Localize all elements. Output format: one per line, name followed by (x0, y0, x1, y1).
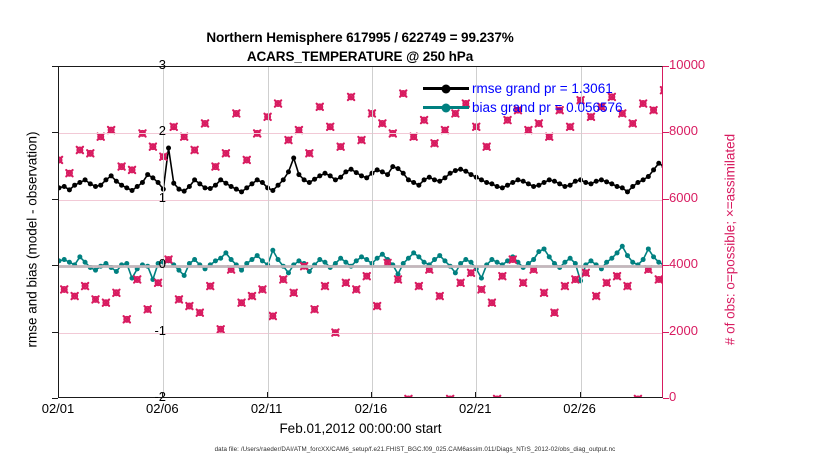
series-marker (630, 184, 635, 189)
obs-marker (536, 120, 542, 126)
obs-marker (567, 124, 573, 130)
obs-marker (129, 167, 135, 173)
y-axis-left-tick-label: 1 (106, 190, 166, 205)
obs-marker (144, 306, 150, 312)
obs-marker (431, 140, 437, 146)
series-marker (375, 256, 380, 261)
series-marker (411, 250, 416, 255)
series-marker (432, 177, 437, 182)
series-marker (62, 257, 67, 262)
series-marker (260, 180, 265, 185)
series-marker (239, 189, 244, 194)
series-marker (354, 258, 359, 263)
series-marker (588, 181, 593, 186)
series-marker (213, 183, 218, 188)
series-marker (208, 186, 213, 191)
x-axis-tick-mark (580, 392, 581, 398)
series-marker (646, 246, 651, 251)
series-marker (609, 256, 614, 261)
series-marker (135, 184, 140, 189)
series-marker (479, 276, 484, 281)
figure-canvas: Northern Hemisphere 617995 / 622749 = 99… (0, 0, 830, 470)
series-marker (531, 257, 536, 262)
obs-marker (614, 273, 620, 279)
series-marker (343, 260, 348, 265)
series-marker (500, 185, 505, 190)
series-marker (463, 257, 468, 262)
series-marker (364, 175, 369, 180)
obs-marker (171, 124, 177, 130)
series-marker (401, 171, 406, 176)
series-marker (552, 179, 557, 184)
series-marker (140, 180, 145, 185)
series-marker (249, 257, 254, 262)
obs-marker (364, 273, 370, 279)
obs-marker (379, 120, 385, 126)
series-marker (302, 177, 307, 182)
obs-marker (343, 280, 349, 286)
series-marker (390, 164, 395, 169)
series-marker (526, 181, 531, 186)
series-marker (641, 257, 646, 262)
x-axis-label: Feb.01,2012 00:00:00 start (58, 421, 663, 436)
series-marker (150, 175, 155, 180)
series-marker (562, 260, 567, 265)
obs-marker (410, 134, 416, 140)
series-marker (223, 181, 228, 186)
obs-marker (337, 143, 343, 149)
chart-legend: rmse grand pr = 1.3061bias grand pr = 0.… (423, 79, 623, 117)
series-marker (176, 268, 181, 273)
data-file-caption: data file: /Users/raeder/DAI/ATM_forcXX/… (0, 446, 830, 453)
obs-marker (249, 293, 255, 299)
series-marker (98, 183, 103, 188)
series-marker (448, 171, 453, 176)
series-marker (625, 253, 630, 258)
obs-marker (322, 283, 328, 289)
series-marker (77, 180, 82, 185)
y-axis-right-tick-mark (663, 66, 669, 67)
obs-marker (562, 283, 568, 289)
series-marker (286, 270, 291, 275)
series-marker (114, 179, 119, 184)
series-marker (59, 258, 62, 263)
series-marker (229, 184, 234, 189)
series-marker (432, 257, 437, 262)
series-marker (599, 177, 604, 182)
series-marker (260, 258, 265, 263)
obs-marker (306, 150, 312, 156)
obs-marker (437, 293, 443, 299)
series-marker (59, 185, 62, 190)
series-marker (223, 250, 228, 255)
obs-marker (280, 276, 286, 282)
obs-marker (478, 286, 484, 292)
x-axis-tick-mark (267, 392, 268, 398)
gridline-vertical (163, 67, 164, 397)
series-marker (489, 257, 494, 262)
series-marker (635, 180, 640, 185)
obs-marker (551, 309, 557, 315)
obs-marker (327, 124, 333, 130)
obs-marker (113, 290, 119, 296)
series-marker (291, 155, 296, 160)
series-marker (406, 177, 411, 182)
series-marker (547, 254, 552, 259)
series-marker (93, 184, 98, 189)
y-axis-left-tick-mark (52, 398, 58, 399)
y-axis-left-tick-mark (52, 199, 58, 200)
series-marker (364, 257, 369, 262)
series-marker (422, 260, 427, 265)
gridline-vertical (372, 67, 373, 397)
obs-marker (217, 326, 223, 332)
obs-marker (400, 90, 406, 96)
series-marker (281, 177, 286, 182)
obs-marker (275, 100, 281, 106)
obs-marker (661, 87, 663, 93)
series-marker (625, 189, 630, 194)
series-marker (641, 177, 646, 182)
series-marker (620, 185, 625, 190)
obs-marker (92, 296, 98, 302)
series-marker (62, 184, 67, 189)
gridline-vertical (268, 67, 269, 397)
series-marker (547, 177, 552, 182)
series-marker (615, 184, 620, 189)
obs-marker (541, 290, 547, 296)
series-marker (536, 249, 541, 254)
series-marker (72, 183, 77, 188)
series-marker (333, 177, 338, 182)
obs-marker (405, 396, 411, 398)
x-axis-tick-mark (475, 392, 476, 398)
series-marker (171, 181, 176, 186)
series-marker (67, 260, 72, 265)
series-marker (422, 177, 427, 182)
series-marker (270, 188, 275, 193)
legend-line-swatch (423, 106, 469, 109)
obs-marker (61, 286, 67, 292)
series-marker (176, 187, 181, 192)
series-marker (312, 177, 317, 182)
series-marker (338, 175, 343, 180)
y-axis-left-tick-mark (52, 265, 58, 266)
obs-marker (291, 290, 297, 296)
series-marker (442, 258, 447, 263)
series-marker (197, 181, 202, 186)
series-marker (166, 146, 171, 151)
series-marker (103, 177, 108, 182)
series-marker (469, 260, 474, 265)
series-marker (322, 260, 327, 265)
obs-marker (155, 280, 161, 286)
obs-marker (421, 117, 427, 123)
obs-marker (494, 396, 500, 398)
series-marker (630, 260, 635, 265)
obs-marker (447, 396, 453, 398)
series-marker (244, 185, 249, 190)
obs-marker (259, 286, 265, 292)
series-marker (380, 252, 385, 257)
series-marker (276, 257, 281, 262)
series-marker (385, 172, 390, 177)
series-marker (458, 167, 463, 172)
x-axis-tick-label: 02/16 (355, 401, 388, 416)
obs-marker (525, 127, 531, 133)
series-marker (322, 171, 327, 176)
series-marker (542, 246, 547, 251)
x-axis-tick-mark (58, 392, 59, 398)
series-marker (93, 268, 98, 273)
series-marker (437, 179, 442, 184)
y-axis-right-tick-mark (663, 332, 669, 333)
x-axis-tick-label: 02/01 (42, 401, 75, 416)
series-marker (489, 181, 494, 186)
obs-marker (150, 143, 156, 149)
series-marker (453, 270, 458, 275)
series-marker (396, 272, 401, 277)
y-axis-left-tick-mark (52, 132, 58, 133)
obs-marker (165, 256, 171, 262)
series-marker (307, 180, 312, 185)
y-axis-left-label: rmse and bias (model - observation) (25, 70, 40, 410)
series-marker (119, 183, 124, 188)
obs-marker (593, 293, 599, 299)
series-marker (156, 180, 161, 185)
series-marker (88, 181, 93, 186)
obs-marker (66, 170, 72, 176)
obs-marker (186, 303, 192, 309)
series-marker (651, 167, 656, 172)
x-axis-tick-label: 02/11 (251, 401, 283, 416)
obs-marker (353, 286, 359, 292)
series-marker (187, 184, 192, 189)
series-marker (469, 172, 474, 177)
series-marker (249, 181, 254, 186)
series-rmse (59, 146, 663, 195)
series-marker (562, 184, 567, 189)
series-marker (583, 180, 588, 185)
series-marker (229, 257, 234, 262)
series-marker (416, 254, 421, 259)
obs-marker (583, 270, 589, 276)
series-marker (484, 180, 489, 185)
series-marker (437, 253, 442, 258)
obs-marker (82, 283, 88, 289)
y-axis-left-tick-mark (52, 332, 58, 333)
series-marker (77, 254, 82, 259)
y-axis-left-tick-label: 0 (106, 256, 166, 271)
series-marker (588, 258, 593, 263)
series-marker (375, 167, 380, 172)
series-marker (573, 179, 578, 184)
series-marker (286, 169, 291, 174)
series-marker (317, 173, 322, 178)
obs-marker (71, 293, 77, 299)
legend-line-swatch (423, 87, 469, 90)
obs-marker (489, 300, 495, 306)
series-marker (67, 187, 72, 192)
legend-item[interactable]: rmse grand pr = 1.3061 (423, 79, 623, 98)
series-marker (182, 189, 187, 194)
series-marker (213, 258, 218, 263)
y-axis-left-tick-mark (52, 66, 58, 67)
obs-marker (238, 300, 244, 306)
series-marker (442, 175, 447, 180)
series-marker (557, 181, 562, 186)
obs-marker (603, 280, 609, 286)
series-marker (239, 268, 244, 273)
series-marker (568, 256, 573, 261)
series-marker (510, 180, 515, 185)
obs-marker (416, 283, 422, 289)
obs-marker (244, 157, 250, 163)
obs-marker (358, 137, 364, 143)
obs-marker (191, 147, 197, 153)
obs-marker (546, 134, 552, 140)
obs-marker (98, 134, 104, 140)
obs-marker (483, 143, 489, 149)
obs-marker (624, 283, 630, 289)
series-marker (396, 166, 401, 171)
y-axis-left-tick-label: -1 (106, 323, 166, 338)
y-axis-left-tick-label: 2 (106, 123, 166, 138)
series-marker (349, 167, 354, 172)
obs-marker (457, 280, 463, 286)
obs-marker (270, 313, 276, 319)
series-marker (495, 184, 500, 189)
obs-marker (233, 110, 239, 116)
obs-marker (296, 127, 302, 133)
series-marker (656, 161, 661, 166)
series-marker (83, 177, 88, 182)
x-axis-tick-label: 02/26 (563, 401, 596, 416)
series-marker (317, 257, 322, 262)
obs-marker (176, 296, 182, 302)
y-axis-right-tick-mark (663, 398, 669, 399)
obs-marker (118, 163, 124, 169)
series-marker (531, 184, 536, 189)
obs-marker (202, 120, 208, 126)
series-marker (380, 169, 385, 174)
series-marker (354, 170, 359, 175)
series-marker (427, 175, 432, 180)
legend-item-label: bias grand pr = 0.056576 (472, 100, 623, 115)
series-marker (218, 177, 223, 182)
series-marker (542, 180, 547, 185)
obs-marker (285, 137, 291, 143)
obs-marker (87, 150, 93, 156)
series-marker (615, 250, 620, 255)
series-marker (515, 177, 520, 182)
obs-marker (124, 316, 130, 322)
series-marker (536, 183, 541, 188)
obs-marker (348, 94, 354, 100)
series-marker (328, 173, 333, 178)
series-marker (359, 173, 364, 178)
y-axis-right-tick-mark (663, 132, 669, 133)
series-marker (359, 254, 364, 259)
series-marker (609, 181, 614, 186)
series-marker (411, 180, 416, 185)
series-marker (145, 172, 150, 177)
series-marker (343, 169, 348, 174)
series-marker (656, 260, 661, 265)
obs-marker (77, 147, 83, 153)
obs-marker (59, 157, 62, 163)
chart-title-line1: Northern Hemisphere 617995 / 622749 = 99… (0, 28, 720, 47)
y-axis-right-tick-mark (663, 199, 669, 200)
series-marker (620, 244, 625, 249)
series-marker (594, 179, 599, 184)
series-marker (604, 260, 609, 265)
obs-marker (520, 280, 526, 286)
obs-marker (181, 134, 187, 140)
y-axis-right-tick-mark (663, 265, 669, 266)
series-marker (234, 187, 239, 192)
series-marker (646, 174, 651, 179)
obs-marker (635, 396, 641, 398)
series-marker (192, 177, 197, 182)
legend-marker-icon (442, 103, 451, 112)
y-axis-right-label: # of obs: o=possible; ×=assimilated (723, 70, 738, 410)
series-marker (463, 169, 468, 174)
series-marker (182, 273, 187, 278)
obs-marker (207, 283, 213, 289)
obs-marker (311, 306, 317, 312)
obs-marker (197, 309, 203, 315)
obs-marker (103, 300, 109, 306)
obs-marker (650, 107, 656, 113)
obs-marker (640, 100, 646, 106)
series-marker (276, 183, 281, 188)
series-marker (109, 173, 114, 178)
obs-marker (374, 303, 380, 309)
obs-marker (468, 270, 474, 276)
series-marker (495, 260, 500, 265)
obs-marker (499, 273, 505, 279)
legend-item[interactable]: bias grand pr = 0.056576 (423, 98, 623, 117)
series-marker (651, 254, 656, 259)
series-marker (406, 256, 411, 261)
obs-marker (504, 117, 510, 123)
obs-marker (630, 120, 636, 126)
x-axis-tick-mark (371, 392, 372, 398)
series-marker (604, 179, 609, 184)
obs-marker (212, 163, 218, 169)
legend-marker-icon (442, 84, 451, 93)
obs-marker (442, 127, 448, 133)
series-marker (296, 172, 301, 177)
x-axis-tick-mark (162, 392, 163, 398)
series-marker (255, 177, 260, 182)
series-marker (521, 179, 526, 184)
series-marker (192, 257, 197, 262)
series-marker (416, 183, 421, 188)
obs-marker (572, 276, 578, 282)
y-axis-left-tick-label: 3 (106, 57, 166, 72)
series-marker (218, 256, 223, 261)
obs-marker (395, 276, 401, 282)
series-marker (270, 248, 275, 253)
x-axis-tick-label: 02/21 (459, 401, 492, 416)
series-marker (203, 185, 208, 190)
obs-marker (134, 276, 140, 282)
series-marker (338, 256, 343, 261)
obs-marker (223, 150, 229, 156)
x-axis-tick-label: 02/06 (146, 401, 179, 416)
